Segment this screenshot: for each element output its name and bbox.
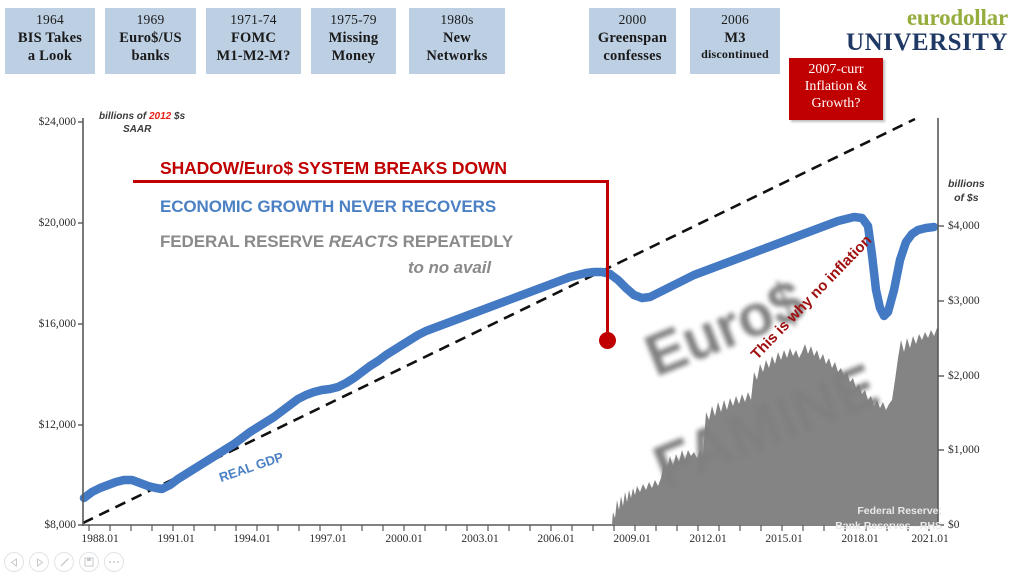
x-axis-label-1997: 1997.01 xyxy=(309,533,346,545)
slide-root: 1964 BIS Takes a Look 1969 Euro$/US bank… xyxy=(0,0,1024,576)
timeline-box-line2: BIS Takes xyxy=(5,29,95,47)
left-unit-prefix: billions of xyxy=(99,111,149,122)
timeline-box-line2: Greenspan xyxy=(589,29,676,47)
right-unit-line1: billions xyxy=(948,178,985,190)
right-unit-line2: of $s xyxy=(954,192,979,204)
annotation-to-no-avail: to no avail xyxy=(408,258,491,278)
y2-axis-label-4000: $4,000 xyxy=(948,220,980,232)
timeline-box-year: 2006 xyxy=(690,12,780,29)
x-axis-label-2009: 2009.01 xyxy=(613,533,650,545)
right-axis-unit-note: billions of $s xyxy=(948,178,985,205)
save-icon[interactable] xyxy=(79,552,99,572)
left-unit-saar: SAAR xyxy=(99,123,151,136)
y-axis-label-24000: $24,000 xyxy=(39,116,76,128)
timeline-box-year: 1969 xyxy=(105,12,196,29)
timeline-box-1980s[interactable]: 1980s New Networks xyxy=(409,8,505,74)
annotation-shadow-system: SHADOW/Euro$ SYSTEM BREAKS DOWN xyxy=(160,158,507,179)
x-axis-label-1988: 1988.01 xyxy=(81,533,118,545)
source-note: Federal Reserve; Bank Reserves - RHS xyxy=(790,504,942,534)
timeline-box-year: 1975-79 xyxy=(311,12,396,29)
pencil-icon[interactable] xyxy=(54,552,74,572)
timeline-box-line3: a Look xyxy=(5,47,95,65)
annotation-fed-part1: FEDERAL RESERVE xyxy=(160,232,329,251)
left-unit-suffix: $s xyxy=(171,111,185,122)
y2-axis-label-0: $0 xyxy=(948,519,960,531)
annotation-fed-part3: REPEATEDLY xyxy=(398,232,513,251)
callout-horizontal-line xyxy=(133,180,609,183)
callout-vertical-line xyxy=(606,180,609,342)
timeline-box-year: 1980s xyxy=(409,12,505,29)
right-axis-ticks xyxy=(938,226,944,525)
timeline-box-line3: discontinued xyxy=(690,47,780,62)
y-axis-label-8000: $8,000 xyxy=(44,519,76,531)
timeline-box-1975-79[interactable]: 1975-79 Missing Money xyxy=(311,8,396,74)
highlight-box-line1: 2007-curr xyxy=(789,61,883,78)
callout-endpoint-marker xyxy=(599,332,616,349)
timeline-box-year: 1971-74 xyxy=(206,12,301,29)
next-icon[interactable] xyxy=(29,552,49,572)
annotation-fed-reacts: REACTS xyxy=(329,232,398,251)
timeline-box-1964[interactable]: 1964 BIS Takes a Look xyxy=(5,8,95,74)
y2-axis-label-2000: $2,000 xyxy=(948,370,980,382)
timeline-box-line2: New xyxy=(409,29,505,47)
timeline-box-year: 2000 xyxy=(589,12,676,29)
left-axis-unit-note: billions of 2012 $s SAAR xyxy=(99,110,185,136)
y-axis-label-20000: $20,000 xyxy=(39,217,76,229)
y-axis-label-12000: $12,000 xyxy=(39,419,76,431)
more-icon[interactable] xyxy=(104,552,124,572)
x-axis-label-1991: 1991.01 xyxy=(157,533,194,545)
bottom-toolbar[interactable] xyxy=(4,550,124,574)
timeline-box-line3: Networks xyxy=(409,47,505,65)
chart-area: $24,000 $20,000 $16,000 $12,000 $8,000 $… xyxy=(0,100,1024,550)
source-line1: Federal Reserve; xyxy=(857,505,942,517)
timeline-box-line2: FOMC xyxy=(206,29,301,47)
timeline-box-line2: Euro$/US xyxy=(105,29,196,47)
x-axis-label-2003: 2003.01 xyxy=(461,533,498,545)
timeline-box-2006[interactable]: 2006 M3 discontinued xyxy=(690,8,780,74)
y2-axis-label-3000: $3,000 xyxy=(948,295,980,307)
x-axis-label-1994: 1994.01 xyxy=(233,533,270,545)
x-axis-label-2015: 2015.01 xyxy=(765,533,802,545)
x-axis-label-2021: 2021.01 xyxy=(911,533,948,545)
timeline-box-line2: M3 xyxy=(690,29,780,47)
x-axis-label-2012: 2012.01 xyxy=(689,533,726,545)
brand-line2: UNIVERSITY xyxy=(846,30,1008,56)
x-axis-label-2006: 2006.01 xyxy=(537,533,574,545)
x-axis-label-2000: 2000.01 xyxy=(385,533,422,545)
y-axis-label-16000: $16,000 xyxy=(39,318,76,330)
chart-plot-svg xyxy=(0,100,1024,550)
left-unit-year: 2012 xyxy=(149,111,171,122)
annotation-economic-growth: ECONOMIC GROWTH NEVER RECOVERS xyxy=(160,197,496,217)
y2-axis-label-1000: $1,000 xyxy=(948,444,980,456)
x-axis-label-2018: 2018.01 xyxy=(841,533,878,545)
annotation-federal-reserve: FEDERAL RESERVE REACTS REPEATEDLY xyxy=(160,232,513,252)
previous-icon[interactable] xyxy=(4,552,24,572)
source-line2: Bank Reserves - RHS xyxy=(835,520,942,532)
timeline-box-year: 1964 xyxy=(5,12,95,29)
timeline-box-1971-74[interactable]: 1971-74 FOMC M1-M2-M? xyxy=(206,8,301,74)
timeline-box-2000[interactable]: 2000 Greenspan confesses xyxy=(589,8,676,74)
highlight-box-line2: Inflation & xyxy=(789,78,883,95)
timeline-box-line3: banks xyxy=(105,47,196,65)
timeline-box-line3: Money xyxy=(311,47,396,65)
brand-logo: eurodollar UNIVERSITY xyxy=(846,6,1008,56)
timeline-box-line3: M1-M2-M? xyxy=(206,47,301,65)
timeline-box-line3: confesses xyxy=(589,47,676,65)
timeline-box-line2: Missing xyxy=(311,29,396,47)
brand-line1: eurodollar xyxy=(846,6,1008,30)
timeline-box-1969[interactable]: 1969 Euro$/US banks xyxy=(105,8,196,74)
